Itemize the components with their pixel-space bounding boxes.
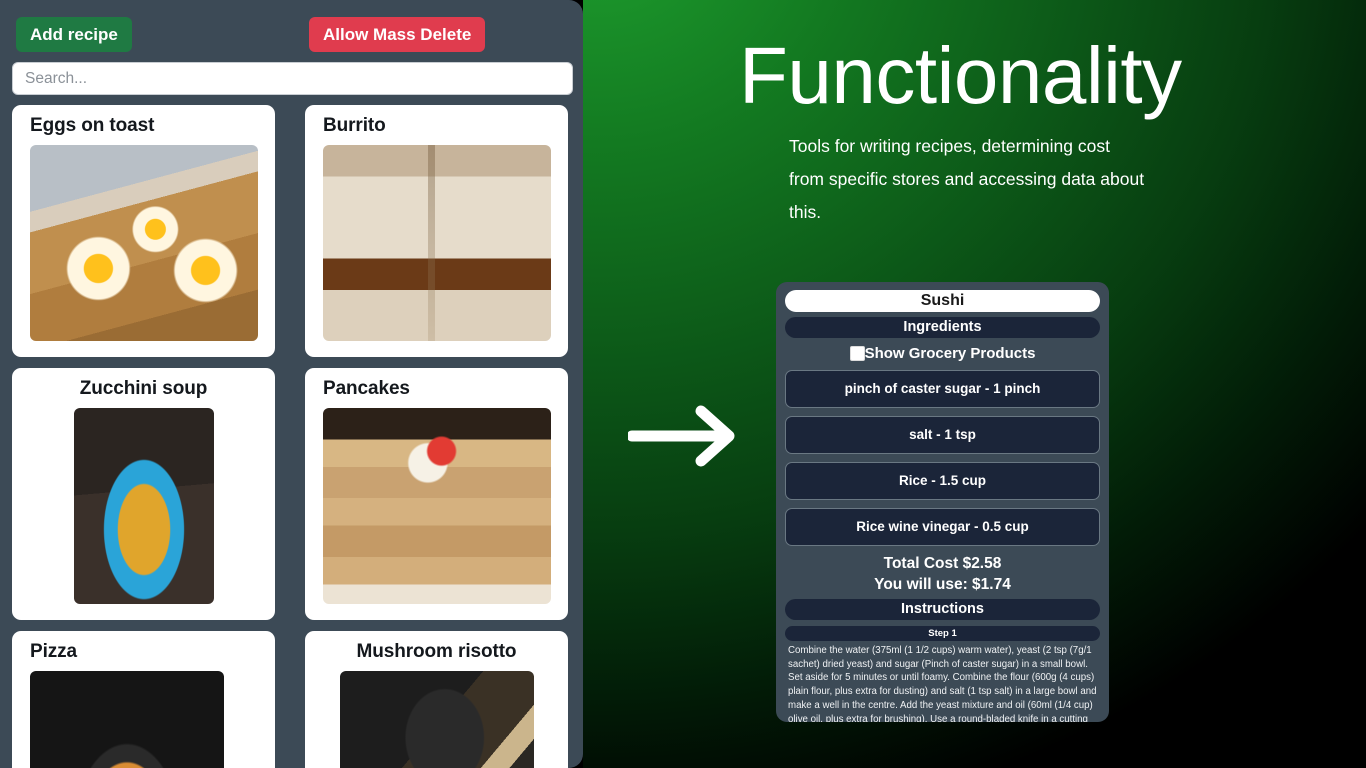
recipe-card-pizza[interactable]: Pizza [12,631,275,768]
recipe-title: Pancakes [305,378,568,408]
app-toolbar: Add recipe Allow Mass Delete [12,10,573,54]
recipe-title: Zucchini soup [12,378,275,408]
ingredients-header: Ingredients [785,317,1100,338]
recipe-card-pancakes[interactable]: Pancakes [305,368,568,620]
add-recipe-button[interactable]: Add recipe [16,17,132,52]
show-grocery-products-label: Show Grocery Products [865,345,1036,362]
recipe-card-mushroom-risotto[interactable]: Mushroom risotto [305,631,568,768]
pancakes-photo [323,408,551,604]
sushi-detail-card: Sushi Ingredients Show Grocery Products … [776,282,1109,722]
mushroom-risotto-photo [340,671,534,768]
instructions-header: Instructions [785,599,1100,620]
recipe-card-eggs-on-toast[interactable]: Eggs on toast [12,105,275,357]
screenshot-root: Add recipe Allow Mass Delete Eggs on toa… [0,0,1366,768]
total-cost-text: Total Cost $2.58 [785,555,1100,573]
pizza-photo [30,671,224,768]
step-label: Step 1 [785,626,1100,641]
step-instructions-text: Combine the water (375ml (1 1/2 cups) wa… [785,644,1100,722]
ingredient-item[interactable]: Rice - 1.5 cup [785,462,1100,500]
recipe-title: Mushroom risotto [305,641,568,671]
show-grocery-products-row[interactable]: Show Grocery Products [785,345,1100,362]
allow-mass-delete-button[interactable]: Allow Mass Delete [309,17,485,52]
zucchini-soup-photo [74,408,214,604]
recipe-card-burrito[interactable]: Burrito [305,105,568,357]
slide-heading: Functionality [739,36,1182,116]
search-input[interactable] [12,62,573,95]
presentation-slide: Functionality Tools for writing recipes,… [583,0,1366,768]
recipe-title: Burrito [305,115,568,145]
recipe-grid: Eggs on toast Burrito Zucchini soup Panc… [12,105,573,768]
you-will-use-text: You will use: $1.74 [785,576,1100,594]
eggs-on-toast-photo [30,145,258,341]
show-grocery-products-checkbox[interactable] [850,346,865,361]
recipe-card-zucchini-soup[interactable]: Zucchini soup [12,368,275,620]
burrito-photo [323,145,551,341]
ingredient-item[interactable]: pinch of caster sugar - 1 pinch [785,370,1100,408]
ingredient-item[interactable]: Rice wine vinegar - 0.5 cup [785,508,1100,546]
ingredient-item[interactable]: salt - 1 tsp [785,416,1100,454]
right-arrow-icon [628,405,742,467]
recipe-title: Eggs on toast [12,115,275,145]
recipe-app-panel: Add recipe Allow Mass Delete Eggs on toa… [0,0,583,768]
recipe-name-field[interactable]: Sushi [785,290,1100,312]
recipe-title: Pizza [12,641,275,671]
slide-subtitle: Tools for writing recipes, determining c… [789,130,1149,229]
